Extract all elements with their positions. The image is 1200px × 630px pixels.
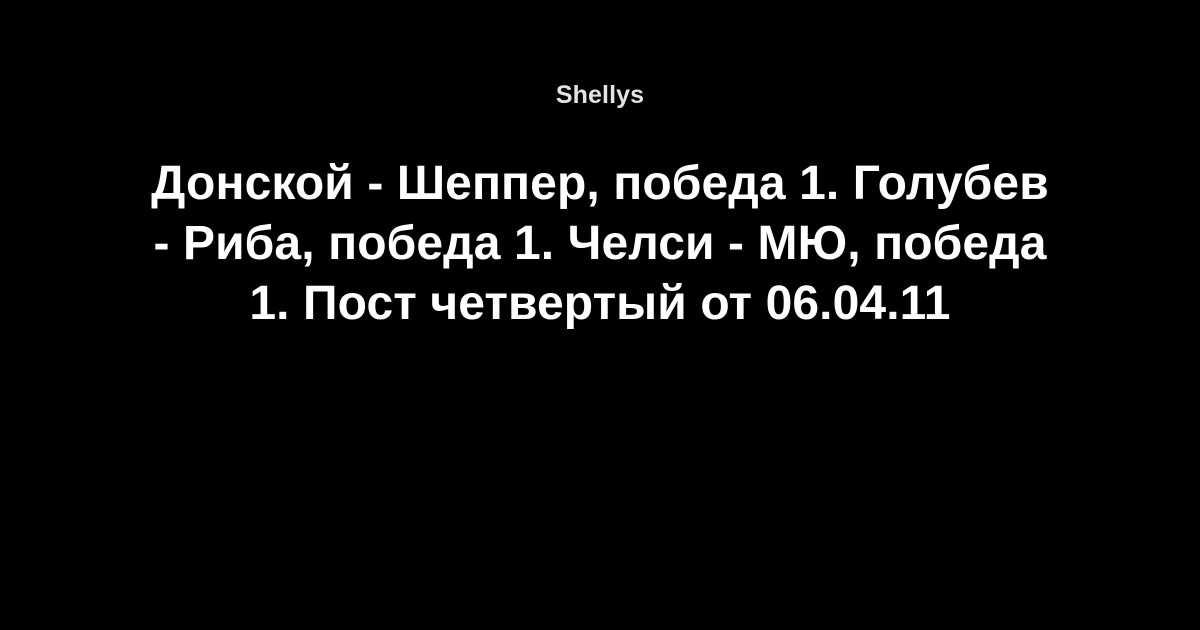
- page-title: Донской - Шеппер, победа 1. Голубев - Ри…: [140, 154, 1060, 334]
- post-title-container: Донской - Шеппер, победа 1. Голубев - Ри…: [140, 154, 1060, 334]
- og-preview-card: Shellys Донской - Шеппер, победа 1. Голу…: [0, 0, 1200, 630]
- site-name: Shellys: [556, 78, 644, 112]
